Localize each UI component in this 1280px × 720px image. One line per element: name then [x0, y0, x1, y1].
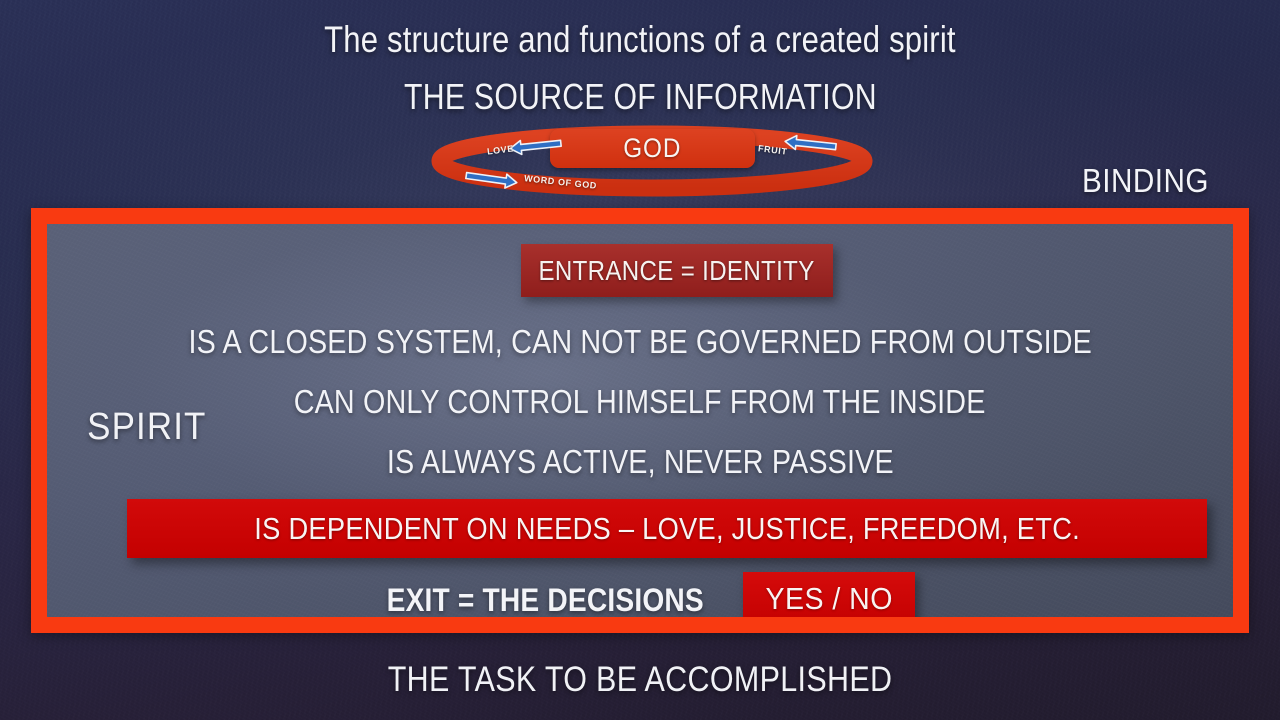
slide-footer-text: THE TASK TO BE ACCOMPLISHED	[388, 660, 893, 700]
god-node-label: GOD	[623, 133, 681, 164]
spirit-statement-text: CAN ONLY CONTROL HIMSELF FROM THE INSIDE	[294, 372, 986, 432]
arrow-left-icon	[780, 134, 840, 154]
needs-banner: IS DEPENDENT ON NEEDS – LOVE, JUSTICE, F…	[127, 499, 1207, 558]
spirit-statement: CAN ONLY CONTROL HIMSELF FROM THE INSIDE	[47, 372, 1233, 432]
entrance-label-text: ENTRANCE = IDENTITY	[539, 255, 815, 287]
slide-title-primary-text: The structure and functions of a created…	[324, 19, 956, 61]
exit-label-text: EXIT = THE DECISIONS	[386, 582, 703, 618]
god-cycle-diagram: GOD LOVE FRUIT WORD OF GOD	[425, 123, 875, 207]
spirit-statement-text: IS A CLOSED SYSTEM, CAN NOT BE GOVERNED …	[188, 312, 1091, 372]
spirit-frame: SPIRIT ENTRANCE = IDENTITY IS A CLOSED S…	[31, 208, 1249, 633]
binding-label: BINDING	[1075, 162, 1216, 200]
exit-row: EXIT = THE DECISIONS YES / NO	[47, 572, 1233, 617]
spirit-statement: IS ALWAYS ACTIVE, NEVER PASSIVE	[47, 432, 1233, 492]
exit-label: EXIT = THE DECISIONS	[365, 582, 726, 618]
spirit-statement: IS A CLOSED SYSTEM, CAN NOT BE GOVERNED …	[47, 312, 1233, 372]
spirit-statement-list: IS A CLOSED SYSTEM, CAN NOT BE GOVERNED …	[47, 312, 1233, 492]
needs-banner-text: IS DEPENDENT ON NEEDS – LOVE, JUSTICE, F…	[254, 511, 1080, 547]
exit-decision-label: YES / NO	[760, 581, 898, 617]
slide-title-primary: The structure and functions of a created…	[0, 19, 1280, 61]
spirit-statement-text: IS ALWAYS ACTIVE, NEVER PASSIVE	[387, 432, 894, 492]
spirit-panel: SPIRIT ENTRANCE = IDENTITY IS A CLOSED S…	[47, 224, 1233, 617]
entrance-box: ENTRANCE = IDENTITY	[521, 244, 833, 297]
slide-footer: THE TASK TO BE ACCOMPLISHED	[0, 660, 1280, 700]
exit-decision-text: YES / NO	[766, 581, 893, 617]
needs-banner-label: IS DEPENDENT ON NEEDS – LOVE, JUSTICE, F…	[198, 511, 1136, 547]
entrance-label: ENTRANCE = IDENTITY	[516, 255, 837, 287]
presentation-slide: The structure and functions of a created…	[0, 0, 1280, 720]
binding-label-text: BINDING	[1082, 162, 1209, 200]
slide-title-secondary-text: THE SOURCE OF INFORMATION	[404, 76, 877, 118]
slide-title-secondary: THE SOURCE OF INFORMATION	[0, 76, 1280, 118]
exit-decision-box: YES / NO	[743, 572, 915, 617]
arrow-right-icon	[460, 169, 522, 189]
god-node: GOD	[550, 129, 755, 168]
